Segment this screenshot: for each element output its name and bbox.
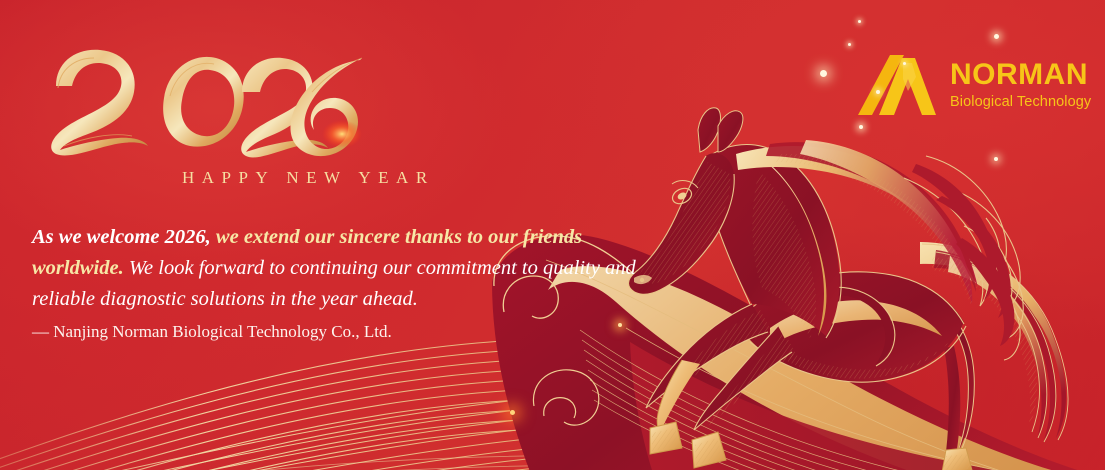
sparkle-icon [858,20,861,23]
year-2026-logotype [42,42,372,172]
happy-new-year-text: HAPPY NEW YEAR [182,168,435,188]
leaping-horse-illustration-icon [620,92,1105,470]
new-year-banner: HAPPY NEW YEAR NORMAN Biological Technol… [0,0,1105,470]
message-part-1: As we welcome 2026, [32,226,216,248]
sparkle-icon [618,323,622,327]
company-attribution: — Nanjing Norman Biological Technology C… [32,322,392,342]
sparkle-icon [994,34,999,39]
greeting-message: As we welcome 2026, we extend our sincer… [32,222,672,315]
sparkle-icon [994,157,998,161]
logo-text-block: NORMAN Biological Technology [950,60,1091,110]
sparkle-icon [848,43,851,46]
sparkle-icon [859,125,863,129]
logo-tagline: Biological Technology [950,95,1091,110]
sparkle-icon [510,410,515,415]
norman-chevron-logo-icon [858,55,936,115]
logo-company-name: NORMAN [950,60,1091,90]
sparkle-icon [820,70,827,77]
norman-logo[interactable]: NORMAN Biological Technology [858,55,1091,115]
